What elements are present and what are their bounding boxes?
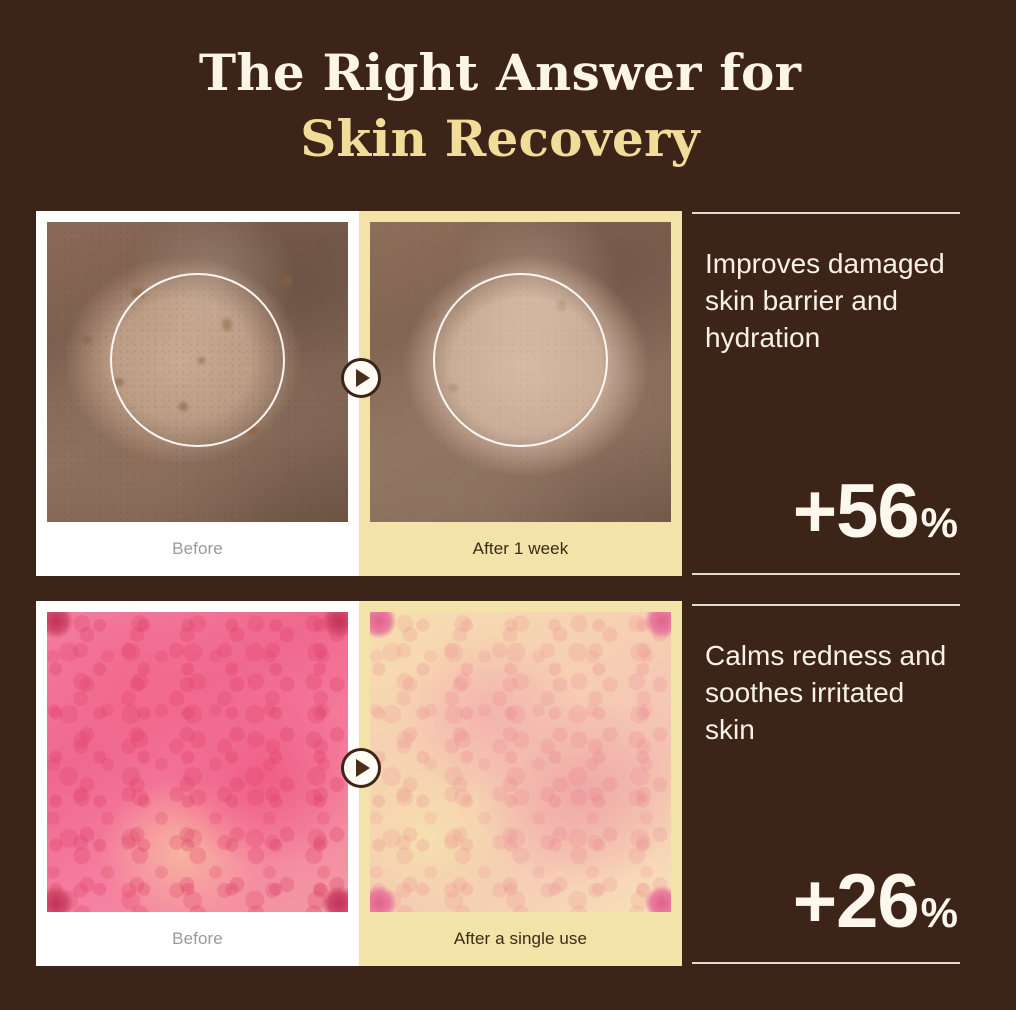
title-line-primary: The Right Answer for	[0, 48, 1000, 98]
before-caption-barrier: Before	[47, 522, 348, 576]
before-caption-redness: Before	[47, 912, 348, 966]
after-caption-redness: After a single use	[370, 912, 671, 966]
claim-block-barrier-hydration: Improves damaged skin barrier and hydrat…	[692, 212, 960, 574]
page-title: The Right Answer for Skin Recovery	[0, 48, 1000, 164]
before-photo-skin-closeup	[47, 222, 348, 522]
claim-text-redness: Calms redness and soothes irritated skin	[705, 638, 955, 749]
stat-unit-redness: %	[921, 889, 958, 936]
redness-mottling	[370, 612, 671, 912]
play-arrow-icon-redness	[341, 748, 381, 788]
play-triangle	[356, 759, 370, 777]
after-photo-skin-closeup	[370, 222, 671, 522]
skin-sheen-highlight	[47, 222, 348, 522]
before-panel-barrier: Before	[36, 211, 359, 576]
redness-mottling	[47, 612, 348, 912]
skin-sheen-highlight	[370, 222, 671, 522]
claim-text-barrier-hydration: Improves damaged skin barrier and hydrat…	[705, 246, 955, 357]
play-arrow-icon-barrier	[341, 358, 381, 398]
after-caption-barrier: After 1 week	[370, 522, 671, 576]
before-photo-redness-map	[47, 612, 348, 912]
before-panel-redness: Before	[36, 601, 359, 966]
after-panel-barrier: After 1 week	[359, 211, 682, 576]
play-triangle	[356, 369, 370, 387]
stat-unit-barrier: %	[921, 499, 958, 546]
claim-block-redness: Calms redness and soothes irritated skin…	[692, 604, 960, 964]
after-panel-redness: After a single use	[359, 601, 682, 966]
claim-stat-redness: +26%	[793, 864, 958, 940]
stat-value-redness: +26	[793, 859, 919, 944]
title-line-accent: Skin Recovery	[0, 114, 1000, 164]
stat-value-barrier: +56	[793, 469, 919, 554]
claim-stat-barrier-hydration: +56%	[793, 474, 958, 550]
after-photo-redness-map	[370, 612, 671, 912]
promo-page: The Right Answer for Skin Recovery	[0, 0, 1016, 1010]
